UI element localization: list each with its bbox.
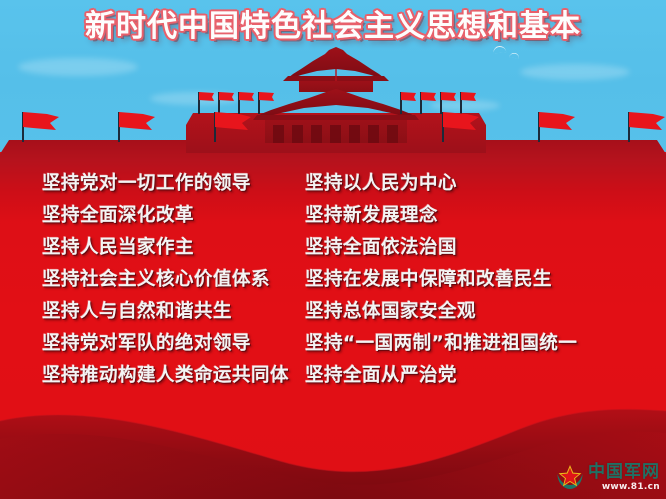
- flag-icon: [420, 92, 436, 114]
- slogan-column-right: 坚持以人民为中心 坚持新发展理念 坚持全面依法治国 坚持在发展中保障和改善民生 …: [305, 168, 666, 408]
- flag-icon: [238, 92, 254, 114]
- cloud-icon: [18, 58, 138, 76]
- flag-icon: [628, 112, 666, 142]
- cloud-icon: [520, 64, 630, 80]
- slogan-line: 坚持新发展理念: [305, 200, 666, 232]
- slogan-column-left: 坚持党对一切工作的领导 坚持全面深化改革 坚持人民当家作主 坚持社会主义核心价值…: [0, 168, 305, 408]
- slogan-columns: 坚持党对一切工作的领导 坚持全面深化改革 坚持人民当家作主 坚持社会主义核心价值…: [0, 168, 666, 408]
- slogan-line: 坚持“一国两制”和推进祖国统一: [305, 328, 666, 360]
- flag-icon: [218, 92, 234, 114]
- flag-icon: [118, 112, 156, 142]
- watermark-name: 中国军网: [588, 464, 660, 481]
- slogan-line: 坚持推动构建人类命运共同体: [42, 360, 305, 392]
- slogan-line: 坚持党对军队的绝对领导: [42, 328, 305, 360]
- flag-icon: [442, 112, 480, 142]
- flag-icon: [460, 92, 476, 114]
- bird-icon: [493, 45, 507, 53]
- watermark-text: 中国军网 www.81.cn: [588, 464, 660, 492]
- flag-icon: [22, 112, 60, 142]
- slogan-line: 坚持全面依法治国: [305, 232, 666, 264]
- slogan-line: 坚持全面从严治党: [305, 360, 666, 392]
- slogan-line: 坚持以人民为中心: [305, 168, 666, 200]
- slogan-line: 坚持人与自然和谐共生: [42, 296, 305, 328]
- page-title: 新时代中国特色社会主义思想和基本: [0, 8, 666, 46]
- flag-icon: [214, 112, 252, 142]
- flag-icon: [400, 92, 416, 114]
- slogan-line: 坚持全面深化改革: [42, 200, 305, 232]
- watermark-url: www.81.cn: [602, 483, 660, 492]
- slogan-line: 坚持社会主义核心价值体系: [42, 264, 305, 296]
- pla-star-emblem-icon: [555, 463, 585, 493]
- flag-icon: [440, 92, 456, 114]
- slogan-line: 坚持总体国家安全观: [305, 296, 666, 328]
- flag-icon: [258, 92, 274, 114]
- watermark: 中国军网 www.81.cn: [555, 463, 660, 493]
- bird-icon: [509, 52, 520, 59]
- poster-root: 新时代中国特色社会主义思想和基本 坚持党对一切工作: [0, 0, 666, 499]
- flag-icon: [198, 92, 214, 114]
- slogan-line: 坚持人民当家作主: [42, 232, 305, 264]
- slogan-line: 坚持党对一切工作的领导: [42, 168, 305, 200]
- flag-icon: [538, 112, 576, 142]
- slogan-line: 坚持在发展中保障和改善民生: [305, 264, 666, 296]
